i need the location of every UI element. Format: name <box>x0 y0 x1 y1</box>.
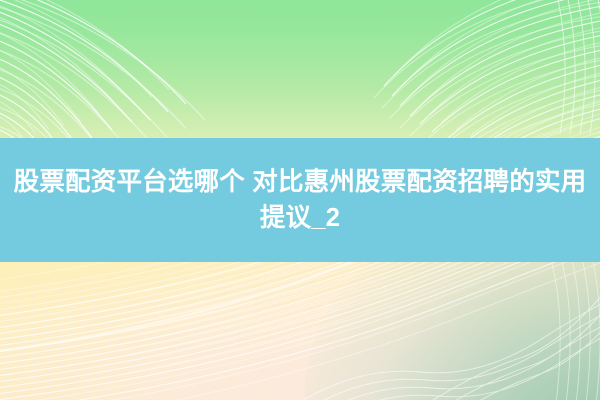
page-title: 股票配资平台选哪个 对比惠州股票配资招聘的实用提议_2 <box>8 164 592 236</box>
promo-banner: 股票配资平台选哪个 对比惠州股票配资招聘的实用提议_2 <box>0 0 600 400</box>
title-band: 股票配资平台选哪个 对比惠州股票配资招聘的实用提议_2 <box>0 138 600 262</box>
